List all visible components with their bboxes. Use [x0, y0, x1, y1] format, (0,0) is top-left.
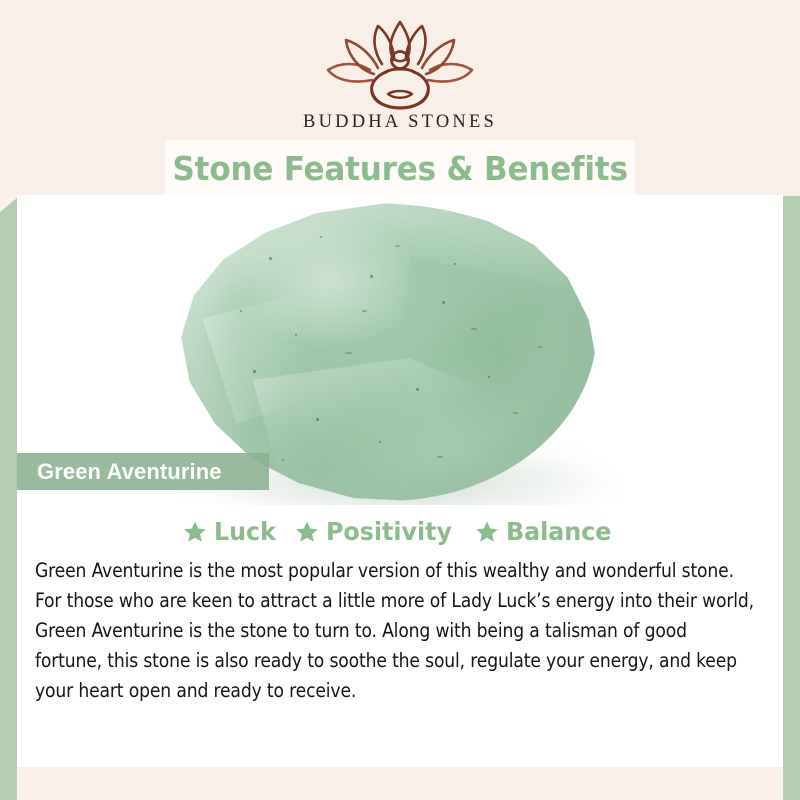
benefit-item-balance: Balance [475, 517, 617, 546]
lotus-meditation-icon [316, 18, 484, 110]
benefits-row: Luck Positivity Balance [17, 505, 783, 546]
benefit-label: Balance [506, 517, 611, 546]
footer-strip [17, 767, 783, 800]
star-icon [295, 520, 319, 544]
page-title: Stone Features & Benefits [172, 149, 627, 188]
star-icon [183, 520, 207, 544]
content-card: Luck Positivity Balance Green Aventurine… [17, 505, 783, 767]
benefit-item-luck: Luck [183, 517, 279, 546]
frame-left-band [0, 198, 17, 800]
product-name-bar: Green Aventurine [17, 453, 269, 490]
header: BUDDHA STONES Stone Features & Benefits [0, 0, 800, 196]
product-photo-panel: Green Aventurine [17, 195, 783, 505]
benefit-item-positivity: Positivity [295, 517, 459, 546]
product-description: Green Aventurine is the most popular ver… [35, 556, 754, 706]
benefit-label: Positivity [326, 517, 452, 546]
product-name: Green Aventurine [17, 459, 222, 485]
brand-name: BUDDHA STONES [303, 112, 497, 133]
brand-logo: BUDDHA STONES [0, 18, 800, 138]
benefit-label: Luck [214, 517, 276, 546]
title-banner: Stone Features & Benefits [165, 140, 635, 196]
infographic-page: BUDDHA STONES Stone Features & Benefits [0, 0, 800, 800]
star-icon [475, 520, 499, 544]
